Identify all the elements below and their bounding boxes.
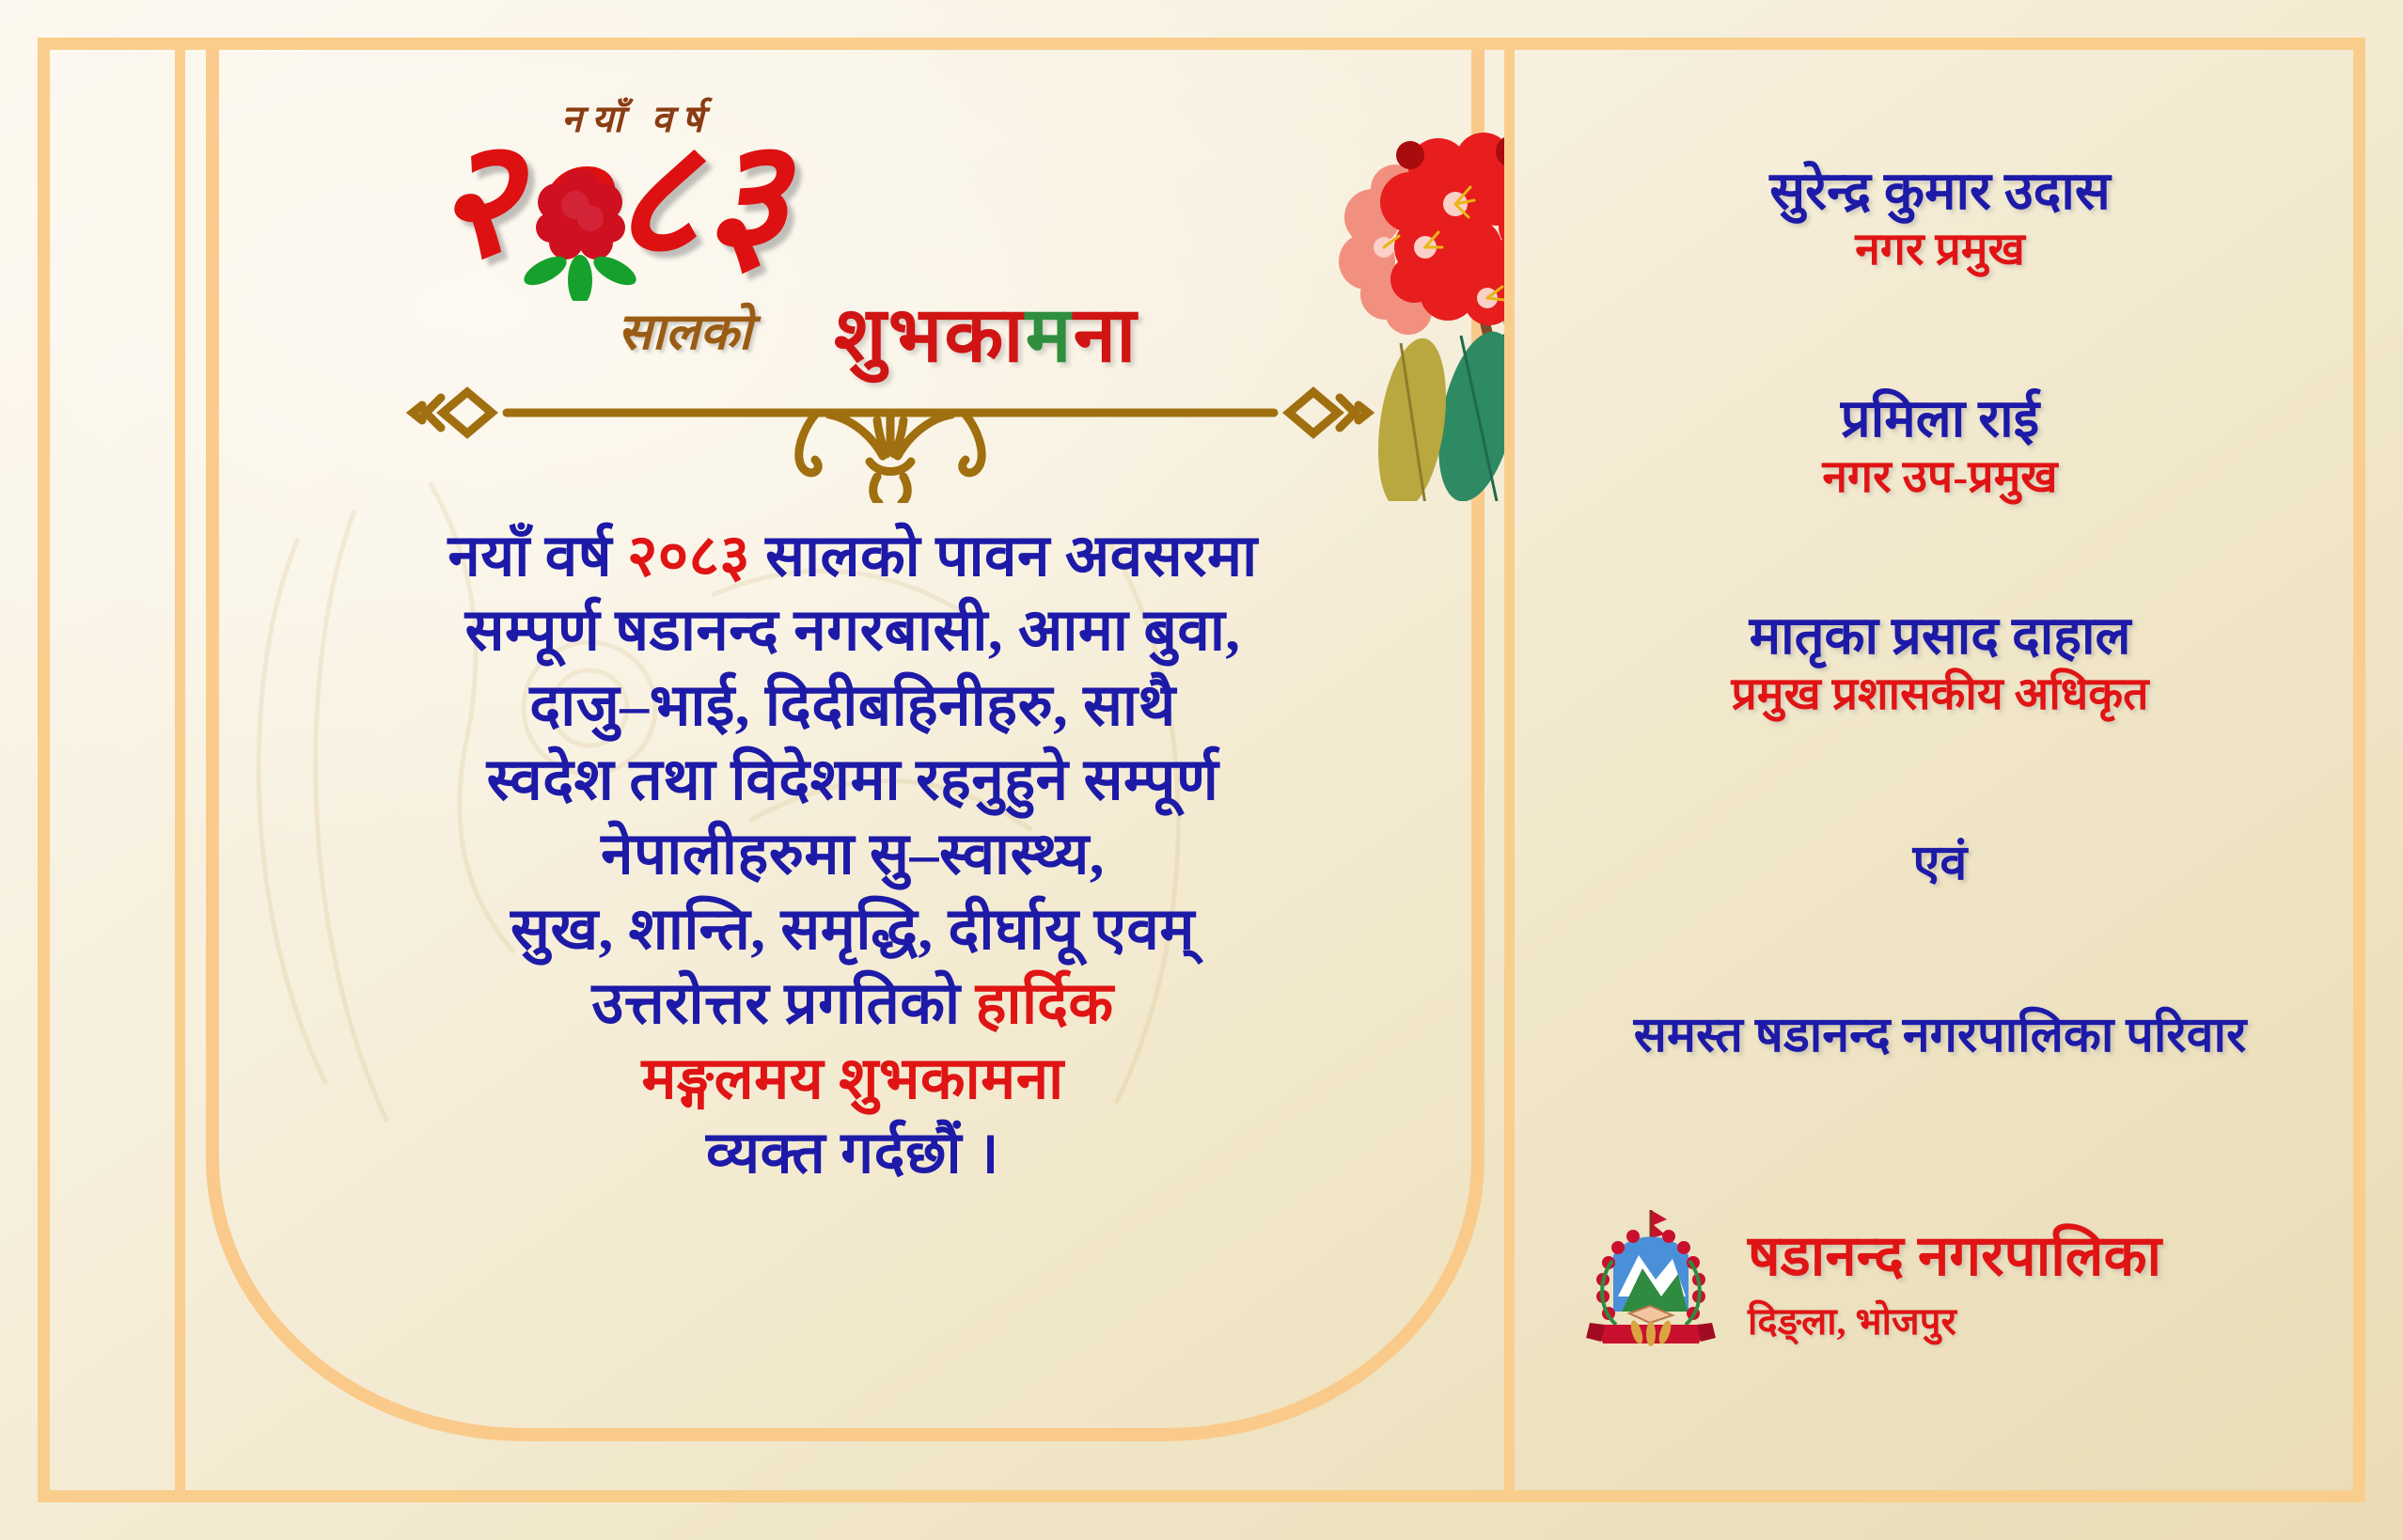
official-name-2: प्रमिला राई <box>1515 388 2365 450</box>
message-line-3-seg-1: दाजु–भाई, दिदीबहिनीहरु, साथै <box>529 674 1175 738</box>
message-line-4-seg-1: स्वदेश तथा विदेशमा रहनुहुने सम्पूर्ण <box>487 748 1219 812</box>
official-name-3: मातृका प्रसाद दाहाल <box>1515 605 2365 668</box>
year-logo-block: नयाँ वर्ष २०८३ सालको <box>185 71 1295 381</box>
official-block-2: प्रमिला राई नगर उप-प्रमुख <box>1515 388 2365 505</box>
official-title-3: प्रमुख प्रशासकीय अधिकृत <box>1515 668 2365 722</box>
message-line-9: व्यक्त गर्दछौं । <box>204 1117 1501 1191</box>
message-line-3: दाजु–भाई, दिदीबहिनीहरु, साथै <box>204 669 1501 744</box>
message-line-5-seg-1: नेपालीहरुमा सु–स्वास्थ्य, <box>601 823 1105 887</box>
frame-inner-strip <box>175 50 185 1490</box>
message-line-7: उत्तरोत्तर प्रगतिको हार्दिक <box>204 967 1501 1042</box>
left-panel: नयाँ वर्ष २०८३ सालको <box>185 50 1504 1490</box>
frame-border-bottom <box>38 1490 2365 1502</box>
nepal-government-emblem <box>1580 1206 1721 1366</box>
official-block-1: सुरेन्द्र कुमार उदास नगर प्रमुख <box>1515 161 2365 277</box>
frame-border-left <box>38 38 50 1502</box>
message-line-8: मङ्गलमय शुभकामना <box>204 1043 1501 1117</box>
salko-label: सालको <box>618 294 752 364</box>
gold-ornamental-divider <box>401 381 1379 503</box>
municipality-text: षडानन्द नगरपालिका दिङ्ला, भोजपुर <box>1748 1227 2161 1345</box>
message-line-6: सुख, शान्ति, समृद्धि, दीर्घायू एवम् <box>204 893 1501 967</box>
right-panel: सुरेन्द्र कुमार उदास नगर प्रमुख प्रमिला … <box>1515 50 2365 1490</box>
municipality-address: दिङ्ला, भोजपुर <box>1748 1294 2161 1345</box>
message-line-7-seg-1: उत्तरोत्तर प्रगतिको <box>591 972 975 1036</box>
message-line-2-seg-1: सम्पूर्ण षडानन्द नगरबासी, आमा बुवा, <box>465 599 1241 663</box>
message-line-8-seg-1: मङ्गलमय शुभकामना <box>641 1047 1063 1111</box>
rose-icon <box>519 160 641 301</box>
greeting-message: नयाँ वर्ष २०८३ सालको पावन अवसरमासम्पूर्ण… <box>204 520 1501 1191</box>
family-line: समस्त षडानन्द नगरपालिका परिवार <box>1515 999 2365 1066</box>
message-line-7-seg-2: हार्दिक <box>976 972 1114 1036</box>
official-title-2: नगर उप-प्रमुख <box>1515 450 2365 505</box>
message-line-1-seg-1: नयाँ वर्ष <box>448 525 627 589</box>
message-line-6-seg-1: सुख, शान्ति, समृद्धि, दीर्घायू एवम् <box>510 898 1195 962</box>
official-block-3: मातृका प्रसाद दाहाल प्रमुख प्रशासकीय अधि… <box>1515 605 2365 722</box>
frame-border-top <box>38 38 2365 50</box>
message-line-2: सम्पूर्ण षडानन्द नगरबासी, आमा बुवा, <box>204 594 1501 668</box>
municipality-name: षडानन्द नगरपालिका <box>1748 1227 2161 1286</box>
municipality-lockup: षडानन्द नगरपालिका दिङ्ला, भोजपुर <box>1580 1192 2323 1380</box>
panel-divider <box>1504 50 1515 1490</box>
shubhakamana-part1: शुभका <box>834 292 1026 378</box>
greeting-card: नयाँ वर्ष २०८३ सालको <box>0 0 2403 1540</box>
official-title-1: नगर प्रमुख <box>1515 223 2365 277</box>
shubhakamana-part2: ना <box>1074 292 1139 378</box>
message-line-9-seg-1: व्यक्त गर्दछौं । <box>706 1122 999 1186</box>
message-line-1: नयाँ वर्ष २०८३ सालको पावन अवसरमा <box>204 520 1501 594</box>
shubhakamana-heading: शुभकामना <box>834 279 1138 385</box>
conjunction-evam: एवं <box>1515 827 2365 894</box>
official-name-1: सुरेन्द्र कुमार उदास <box>1515 161 2365 223</box>
message-line-5: नेपालीहरुमा सु–स्वास्थ्य, <box>204 818 1501 892</box>
message-line-1-seg-2: २०८३ <box>627 525 750 589</box>
shubhakamana-green: म <box>1026 292 1074 378</box>
message-line-4: स्वदेश तथा विदेशमा रहनुहुने सम्पूर्ण <box>204 744 1501 818</box>
message-line-1-seg-3: सालको पावन अवसरमा <box>750 525 1258 589</box>
